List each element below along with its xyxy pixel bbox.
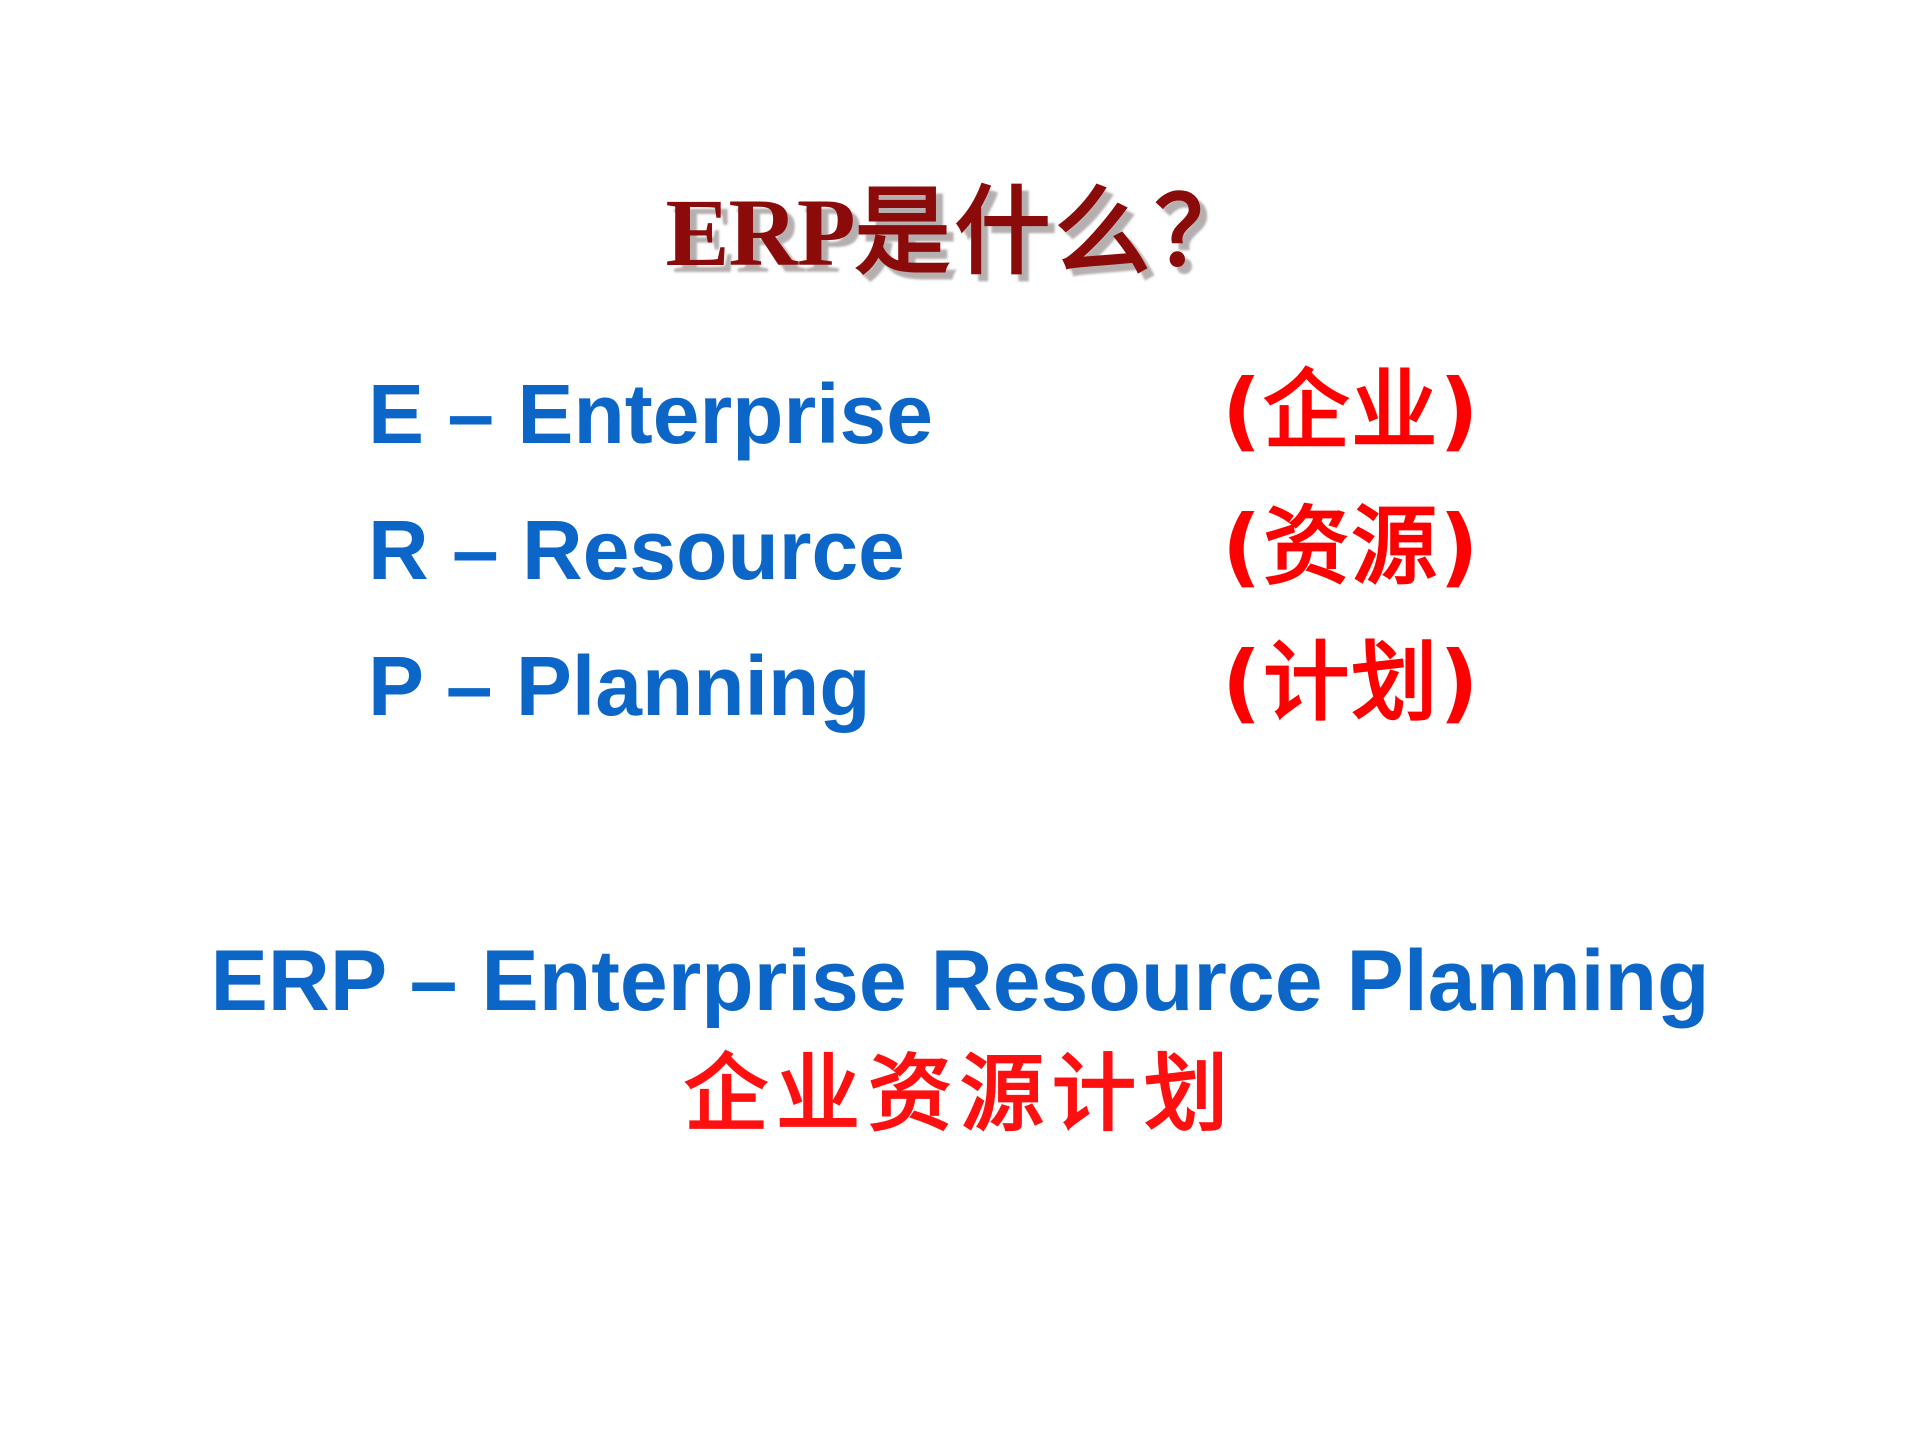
slide-title-latin: ERP <box>666 179 855 286</box>
acronym-english-planning: P – Planning <box>368 644 871 728</box>
acronym-row-enterprise: E – Enterprise (企业) <box>0 372 1920 508</box>
acronym-row-planning: P – Planning (计划) <box>0 644 1920 780</box>
summary-chinese: 企业资源计划 <box>0 1052 1920 1136</box>
acronym-row-resource: R – Resource (资源) <box>0 508 1920 644</box>
summary-english: ERP – Enterprise Resource Planning <box>0 938 1920 1024</box>
acronym-chinese-enterprise: (企业) <box>1222 368 1481 454</box>
acronym-english-enterprise: E – Enterprise <box>368 372 933 456</box>
acronym-english-resource: R – Resource <box>368 508 905 592</box>
acronym-chinese-planning: (计划) <box>1222 640 1481 726</box>
slide-title: ERP是什么？ <box>0 182 1920 284</box>
acronym-list: E – Enterprise (企业) R – Resource (资源) P … <box>0 372 1920 780</box>
acronym-chinese-resource: (资源) <box>1222 504 1481 590</box>
presentation-slide: ERP是什么？ E – Enterprise (企业) R – Resource… <box>0 0 1920 1440</box>
slide-title-han: 是什么？ <box>855 175 1255 288</box>
